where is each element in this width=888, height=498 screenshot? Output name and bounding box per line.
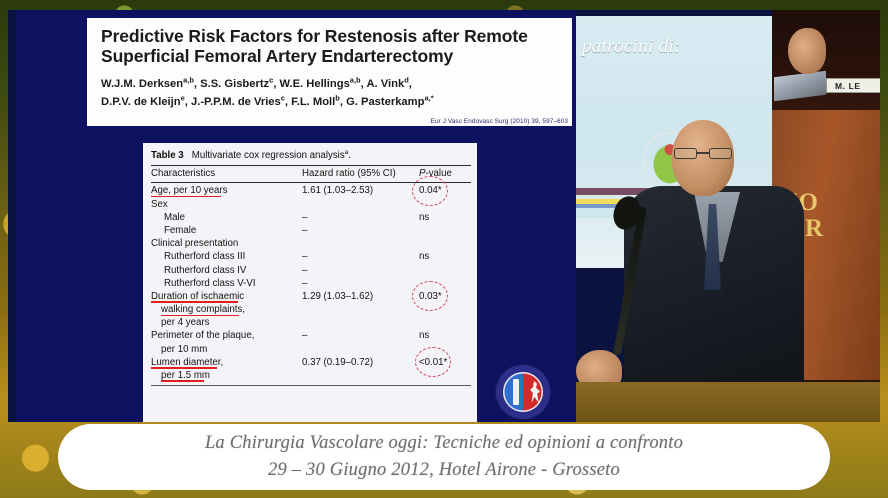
table-row: Female– — [151, 224, 471, 237]
cell-p-value: 0.04* — [413, 184, 471, 197]
author-affiliation: c — [269, 76, 273, 85]
author-line-1: W.J.M. Derksena,b, S.S. Gisbertzc, W.E. … — [101, 78, 412, 90]
cell-characteristic: per 10 mm — [151, 343, 299, 356]
cell-p-value: ns — [413, 250, 471, 263]
lens-right — [709, 148, 732, 159]
table-top-rule — [151, 165, 471, 166]
author-affiliation: a,b — [183, 76, 194, 85]
cell-characteristic: Female — [151, 224, 299, 237]
author-list: W.J.M. Derksena,b, S.S. Gisbertzc, W.E. … — [101, 76, 562, 111]
table-row: Perimeter of the plaque,–ns — [151, 329, 471, 342]
underlined-label: walking complaints, — [161, 304, 245, 315]
author-line-2: D.P.V. de Kleijne, J.-P.P.M. de Vriesc, … — [101, 96, 434, 108]
cell-hazard-ratio: 1.61 (1.03–2.53) — [299, 184, 413, 197]
cell-p-value: ns — [413, 329, 471, 342]
cell-p-value — [413, 316, 471, 329]
table-row: Clinical presentation — [151, 237, 471, 250]
cell-characteristic: Rutherford class V-VI — [151, 277, 299, 290]
slide-title-card: Predictive Risk Factors for Restenosis a… — [84, 18, 572, 126]
caption-line-1: La Chirurgia Vascolare oggi: Tecniche ed… — [205, 430, 683, 457]
cell-characteristic: walking complaints, — [151, 303, 299, 316]
author-name: F.L. Moll — [291, 96, 335, 108]
table-row: Lumen diameter,0.37 (0.19–0.72)<0.01* — [151, 356, 471, 369]
underlined-label: Duration of ischaemic — [151, 291, 244, 302]
desk-front — [576, 382, 880, 422]
underlined-label: Lumen diameter, — [151, 357, 223, 368]
cell-characteristic: Clinical presentation — [151, 237, 299, 250]
highlighted-p-value: <0.01* — [419, 357, 447, 368]
col-header-hazard-ratio: Hazard ratio (95% CI) — [299, 167, 413, 181]
author-affiliation: b — [335, 93, 340, 102]
cell-hazard-ratio: 0.37 (0.19–0.72) — [299, 356, 413, 369]
cell-characteristic: Duration of ischaemic — [151, 290, 299, 303]
cell-characteristic: Lumen diameter, — [151, 356, 299, 369]
table-caption-period: . — [348, 150, 351, 161]
cell-hazard-ratio — [299, 316, 413, 329]
author-name: G. Pasterkamp — [346, 96, 424, 108]
underlined-label: per 1.5 mm — [161, 370, 210, 381]
caption-line-2: 29 – 30 Giugno 2012, Hotel Airone - Gros… — [268, 457, 620, 484]
eyeglasses-icon — [674, 148, 732, 159]
author-affiliation: a,* — [424, 93, 433, 102]
underlined-label: Age, per 10 years — [151, 185, 227, 196]
table-caption-text: Multivariate cox regression analysis — [192, 150, 345, 161]
cell-hazard-ratio — [299, 198, 413, 211]
cell-characteristic: per 4 years — [151, 316, 299, 329]
cell-p-value: 0.03* — [413, 290, 471, 303]
cell-p-value — [413, 263, 471, 276]
col-header-characteristics: Characteristics — [151, 167, 299, 181]
speaker-camera-view: patrocini di: HO AiR M. LE — [576, 10, 880, 422]
author-name: W.E. Hellings — [280, 78, 350, 90]
cell-hazard-ratio — [299, 303, 413, 316]
speaker-nameplate: M. LE — [826, 78, 880, 93]
table-row: Male–ns — [151, 211, 471, 224]
table-body: Age, per 10 years1.61 (1.03–2.53)0.04*Se… — [151, 184, 471, 382]
table-number: Table 3 — [151, 150, 184, 161]
cell-hazard-ratio — [299, 237, 413, 250]
speaker-hand-right — [788, 28, 826, 74]
university-crest-logo — [496, 365, 550, 419]
cell-characteristic: Perimeter of the plaque, — [151, 329, 299, 342]
cell-characteristic: Male — [151, 211, 299, 224]
cell-characteristic: Rutherford class IV — [151, 263, 299, 276]
author-affiliation: d — [404, 76, 409, 85]
author-name: W.J.M. Derksen — [101, 78, 183, 90]
cell-characteristic: Rutherford class III — [151, 250, 299, 263]
cell-characteristic: per 1.5 mm — [151, 369, 299, 382]
author-affiliation: e — [181, 93, 185, 102]
table-caption: Table 3 Multivariate cox regression anal… — [151, 147, 471, 164]
table-row: per 4 years — [151, 316, 471, 329]
table-row: Rutherford class IV– — [151, 263, 471, 276]
journal-citation: Eur J Vasc Endovasc Surg (2010) 39, 597–… — [431, 118, 568, 125]
cell-characteristic: Age, per 10 years — [151, 184, 299, 197]
cell-hazard-ratio: – — [299, 277, 413, 290]
author-name: J.-P.P.M. de Vries — [191, 96, 281, 108]
paper-title: Predictive Risk Factors for Restenosis a… — [101, 26, 562, 67]
cell-hazard-ratio — [299, 369, 413, 382]
cell-p-value: <0.01* — [413, 356, 471, 369]
projected-slide-text: patrocini di: — [582, 36, 762, 58]
highlighted-p-value: 0.03* — [419, 291, 442, 302]
cell-hazard-ratio: – — [299, 211, 413, 224]
cell-hazard-ratio: – — [299, 263, 413, 276]
cell-hazard-ratio: – — [299, 224, 413, 237]
conference-video-frame: Predictive Risk Factors for Restenosis a… — [8, 10, 880, 422]
cell-characteristic: Sex — [151, 198, 299, 211]
author-name: D.P.V. de Kleijn — [101, 96, 181, 108]
table-row: Rutherford class III–ns — [151, 250, 471, 263]
author-name: S.S. Gisbertz — [200, 78, 269, 90]
highlighted-p-value: 0.04* — [419, 185, 442, 196]
author-name: A. Vink — [366, 78, 404, 90]
cell-p-value — [413, 237, 471, 250]
cell-p-value — [413, 224, 471, 237]
presentation-slide: Predictive Risk Factors for Restenosis a… — [16, 10, 576, 422]
results-table-card: Table 3 Multivariate cox regression anal… — [140, 143, 477, 422]
author-affiliation: a,b — [350, 76, 361, 85]
cell-p-value: ns — [413, 211, 471, 224]
cell-hazard-ratio: – — [299, 329, 413, 342]
table-bottom-rule — [151, 385, 471, 386]
cell-hazard-ratio — [299, 343, 413, 356]
cell-hazard-ratio: 1.29 (1.03–1.62) — [299, 290, 413, 303]
table-row: Age, per 10 years1.61 (1.03–2.53)0.04* — [151, 184, 471, 197]
cell-hazard-ratio: – — [299, 250, 413, 263]
crest-column-icon — [513, 379, 519, 405]
author-affiliation: c — [281, 93, 285, 102]
table-row: Duration of ischaemic1.29 (1.03–1.62)0.0… — [151, 290, 471, 303]
lens-left — [674, 148, 697, 159]
event-caption-banner: La Chirurgia Vascolare oggi: Tecniche ed… — [58, 424, 830, 490]
